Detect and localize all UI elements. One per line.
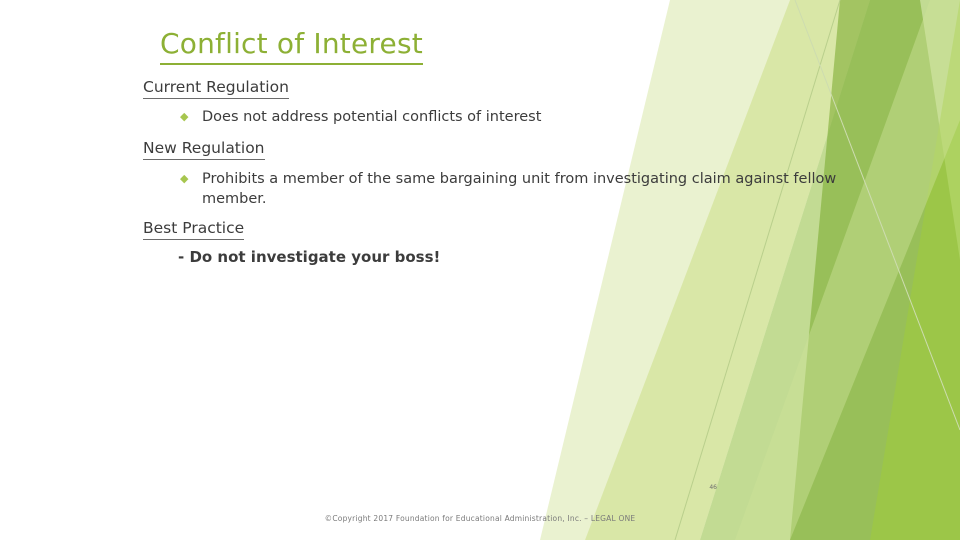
bullet-text: Prohibits a member of the same bargainin…	[202, 170, 840, 209]
bullet-new-regulation: ◆ Prohibits a member of the same bargain…	[180, 170, 840, 209]
section-heading-best-practice: Best Practice	[143, 218, 244, 240]
copyright-footer: ©Copyright 2017 Foundation for Education…	[0, 514, 960, 523]
slide: Conflict of Interest Current Regulation …	[0, 0, 960, 540]
section-heading-current-regulation: Current Regulation	[143, 77, 289, 99]
diamond-bullet-icon: ◆	[180, 170, 202, 189]
bullet-current-regulation: ◆ Does not address potential conflicts o…	[180, 108, 820, 128]
bullet-text: Does not address potential conflicts of …	[202, 108, 541, 128]
page-title: Conflict of Interest	[160, 26, 423, 65]
best-practice-text: - Do not investigate your boss!	[178, 248, 440, 266]
page-number: 46	[709, 484, 717, 491]
section-heading-new-regulation: New Regulation	[143, 138, 265, 160]
decorative-green-graphic	[540, 0, 960, 540]
diamond-bullet-icon: ◆	[180, 108, 202, 127]
